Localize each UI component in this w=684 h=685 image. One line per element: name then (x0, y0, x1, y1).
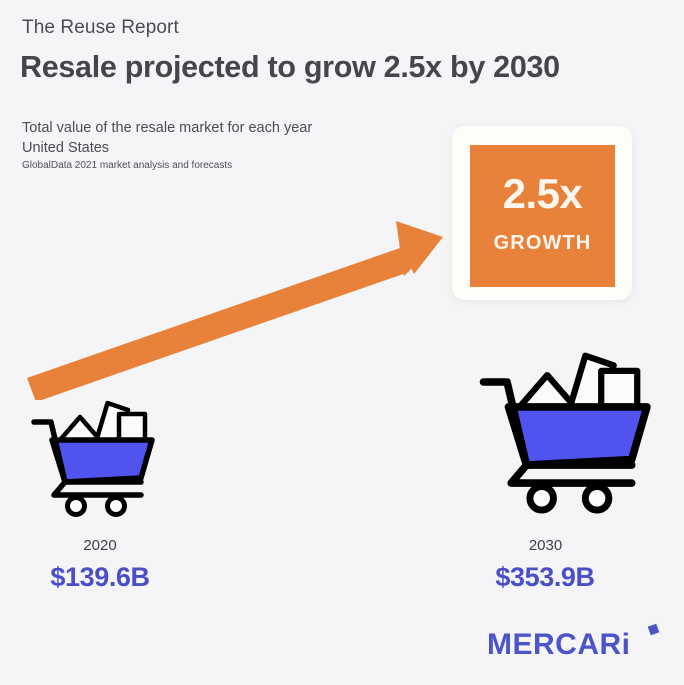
value-label-2020: $139.6B (5, 562, 195, 593)
infographic-canvas: The Reuse Report Resale projected to gro… (0, 0, 684, 685)
growth-badge: 2.5x GROWTH (452, 126, 632, 300)
shopping-cart-icon (478, 338, 658, 516)
shopping-cart-icon (30, 392, 160, 517)
mercari-wordmark: MERCARi (487, 630, 631, 660)
growth-badge-square: 2.5x GROWTH (470, 145, 615, 287)
year-label-2020: 2020 (20, 537, 180, 554)
year-label-2030: 2030 (468, 537, 623, 554)
mercari-logo: MERCARi (487, 625, 659, 663)
growth-multiplier: 2.5x (470, 173, 615, 215)
source-attribution: GlobalData 2021 market analysis and fore… (22, 160, 232, 171)
subtitle-region: United States (22, 140, 109, 156)
growth-badge-label: GROWTH (470, 233, 615, 253)
growth-arrow-icon (0, 190, 470, 400)
mercari-dot-accent (648, 624, 660, 636)
subtitle-description: Total value of the resale market for eac… (22, 120, 312, 136)
report-kicker: The Reuse Report (22, 17, 179, 39)
page-title: Resale projected to grow 2.5x by 2030 (20, 50, 560, 85)
value-label-2030: $353.9B (450, 562, 640, 593)
